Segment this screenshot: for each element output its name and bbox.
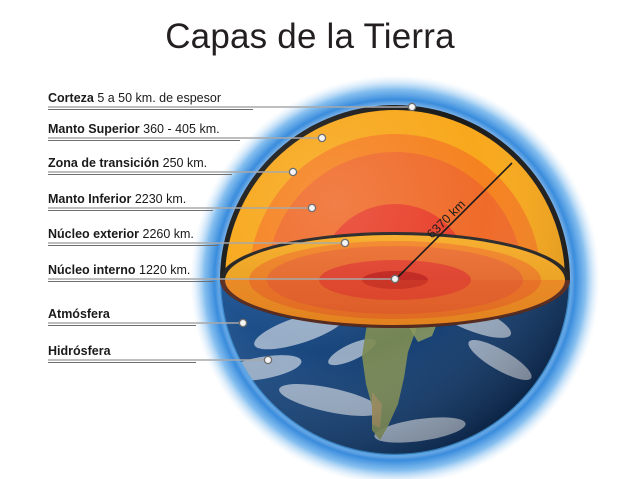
callout-underline-zona-de-transicion bbox=[48, 174, 232, 175]
callout-underline-manto-inferior bbox=[48, 210, 213, 211]
callout-underline-manto-superior bbox=[48, 140, 240, 141]
callout-label-atmosfera: Atmósfera bbox=[48, 307, 110, 321]
callout-rest-manto-inferior: 2230 km. bbox=[131, 192, 186, 206]
callout-lead-zona-de-transicion: Zona de transición bbox=[48, 156, 159, 170]
callout-lead-nucleo-exterior: Núcleo exterior bbox=[48, 227, 139, 241]
callout-corteza: Corteza 5 a 50 km. de espesor bbox=[48, 84, 253, 110]
callout-underline-corteza bbox=[48, 109, 253, 110]
callout-lead-hidrosfera: Hidrósfera bbox=[48, 344, 111, 358]
callout-label-manto-superior: Manto Superior 360 - 405 km. bbox=[48, 122, 220, 136]
callout-nucleo-exterior: Núcleo exterior 2260 km. bbox=[48, 220, 218, 246]
callout-manto-superior: Manto Superior 360 - 405 km. bbox=[48, 115, 240, 141]
callout-label-nucleo-interno: Núcleo interno 1220 km. bbox=[48, 263, 190, 277]
callout-nucleo-interno: Núcleo interno 1220 km. bbox=[48, 256, 214, 282]
callout-lead-corteza: Corteza bbox=[48, 91, 94, 105]
callout-underline-nucleo-exterior bbox=[48, 245, 218, 246]
callout-rest-nucleo-exterior: 2260 km. bbox=[139, 227, 194, 241]
callout-rest-manto-superior: 360 - 405 km. bbox=[140, 122, 220, 136]
callout-lead-nucleo-interno: Núcleo interno bbox=[48, 263, 136, 277]
callout-label-hidrosfera: Hidrósfera bbox=[48, 344, 111, 358]
callout-rest-zona-de-transicion: 250 km. bbox=[159, 156, 207, 170]
callout-label-zona-de-transicion: Zona de transición 250 km. bbox=[48, 156, 207, 170]
callout-lead-atmosfera: Atmósfera bbox=[48, 307, 110, 321]
callout-lead-manto-inferior: Manto Inferior bbox=[48, 192, 131, 206]
callout-label-manto-inferior: Manto Inferior 2230 km. bbox=[48, 192, 186, 206]
earth-layers-infographic: Capas de la Tierra bbox=[0, 0, 620, 479]
callout-label-nucleo-exterior: Núcleo exterior 2260 km. bbox=[48, 227, 194, 241]
callout-atmosfera: Atmósfera bbox=[48, 300, 196, 326]
callout-manto-inferior: Manto Inferior 2230 km. bbox=[48, 185, 213, 211]
callout-label-corteza: Corteza 5 a 50 km. de espesor bbox=[48, 91, 221, 105]
callout-underline-nucleo-interno bbox=[48, 281, 214, 282]
callout-zona-de-transicion: Zona de transición 250 km. bbox=[48, 149, 232, 175]
callout-rest-nucleo-interno: 1220 km. bbox=[136, 263, 191, 277]
callout-rest-corteza: 5 a 50 km. de espesor bbox=[94, 91, 221, 105]
callout-lead-manto-superior: Manto Superior bbox=[48, 122, 140, 136]
callout-hidrosfera: Hidrósfera bbox=[48, 337, 196, 363]
callout-underline-atmosfera bbox=[48, 325, 196, 326]
callout-underline-hidrosfera bbox=[48, 362, 196, 363]
